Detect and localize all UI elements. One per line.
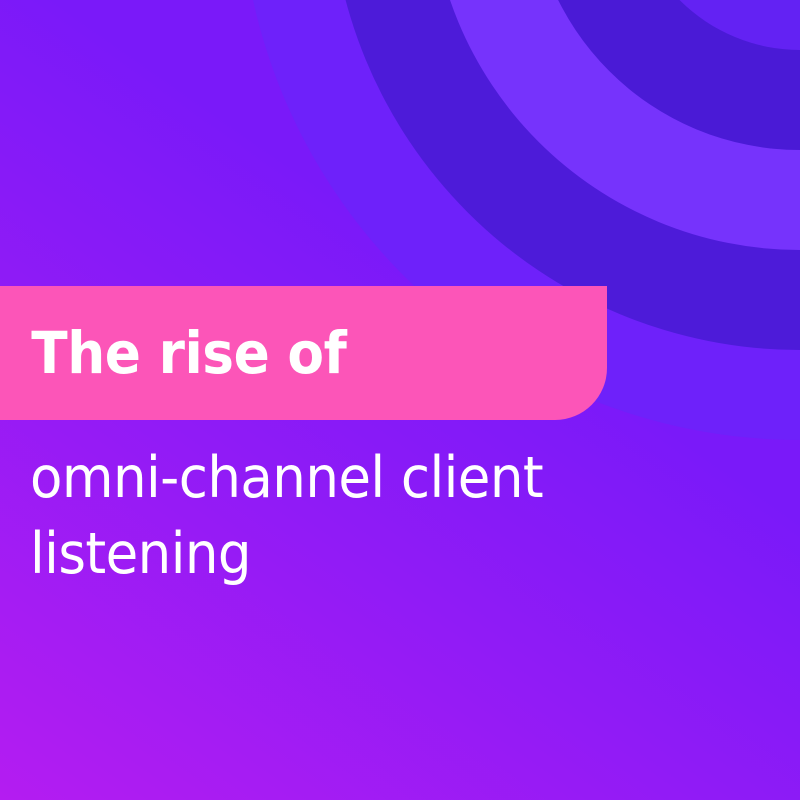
eyebrow-banner: The rise of [0, 286, 607, 420]
headline: omni-channel client listening [30, 440, 750, 592]
title-card: The rise of omni-channel client listenin… [0, 0, 800, 800]
headline-line-1: omni-channel client [30, 440, 700, 516]
headline-line-2: listening [30, 516, 700, 592]
eyebrow-banner-label: The rise of [0, 324, 346, 382]
